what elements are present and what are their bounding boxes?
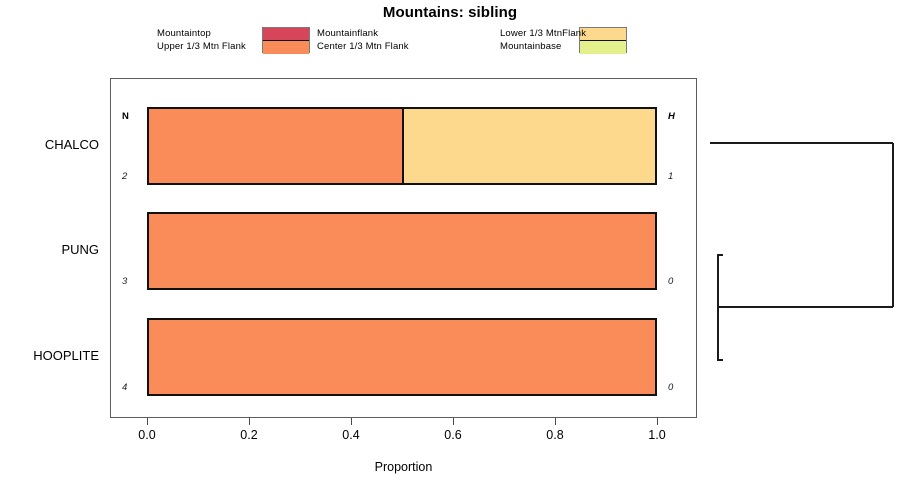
chart-canvas: Mountains: sibling MountaintopUpper 1/3 … (0, 0, 900, 500)
axis-tick (657, 418, 658, 425)
legend-item-label: Mountainbase (500, 40, 586, 53)
axis-tick-label: 0.8 (530, 428, 580, 442)
legend-item-label: Upper 1/3 Mtn Flank (157, 40, 246, 53)
stacked-bar-chalco[interactable] (147, 107, 657, 185)
h-value: 0 (668, 276, 673, 287)
axis-tick-label: 0.0 (122, 428, 172, 442)
x-axis-title: Proportion (110, 460, 697, 474)
axis-tick-label: 0.2 (224, 428, 274, 442)
stacked-bar-pung[interactable] (147, 212, 657, 290)
bar-segment[interactable] (149, 214, 655, 288)
legend-swatch (263, 41, 309, 54)
stacked-bar-hooplite[interactable] (147, 318, 657, 396)
legend-swatch (580, 41, 626, 54)
row-label-hooplite: HOOPLITE (0, 348, 110, 363)
h-value: 0 (668, 382, 673, 393)
axis-tick (147, 418, 148, 425)
legend-labels: Lower 1/3 MtnFlankMountainbase (500, 27, 586, 53)
legend-item-label: Center 1/3 Mtn Flank (317, 40, 409, 53)
dendrogram-svg (700, 78, 900, 418)
legend-item-label: Lower 1/3 MtnFlank (500, 27, 586, 40)
row-label-pung: PUNG (0, 242, 110, 257)
n-value: 2 (122, 171, 127, 182)
n-value: 4 (122, 382, 127, 393)
legend-labels: MountaintopUpper 1/3 Mtn Flank (157, 27, 246, 53)
axis-tick-label: 0.6 (428, 428, 478, 442)
legend-item-label: Mountainflank (317, 27, 409, 40)
legend-item-label: Mountaintop (157, 27, 246, 40)
axis-tick (249, 418, 250, 425)
axis-tick-label: 1.0 (632, 428, 682, 442)
bar-segment[interactable] (149, 109, 402, 183)
legend-swatch-group (579, 27, 627, 53)
legend-swatch (580, 28, 626, 41)
axis-tick-label: 0.4 (326, 428, 376, 442)
h-column-header: H (668, 111, 675, 122)
row-label-chalco: CHALCO (0, 137, 110, 152)
bar-segment[interactable] (402, 109, 655, 183)
legend: MountaintopUpper 1/3 Mtn FlankMountainfl… (157, 27, 657, 53)
axis-tick (453, 418, 454, 425)
bar-segment[interactable] (149, 320, 655, 394)
n-column-header: N (122, 111, 129, 122)
n-value: 3 (122, 276, 127, 287)
axis-tick (351, 418, 352, 425)
legend-swatch-group (262, 27, 310, 53)
legend-swatch (263, 28, 309, 41)
axis-tick (555, 418, 556, 425)
legend-labels: MountainflankCenter 1/3 Mtn Flank (317, 27, 409, 53)
dendrogram (700, 78, 900, 418)
page-title: Mountains: sibling (0, 4, 900, 21)
h-value: 1 (668, 171, 673, 182)
